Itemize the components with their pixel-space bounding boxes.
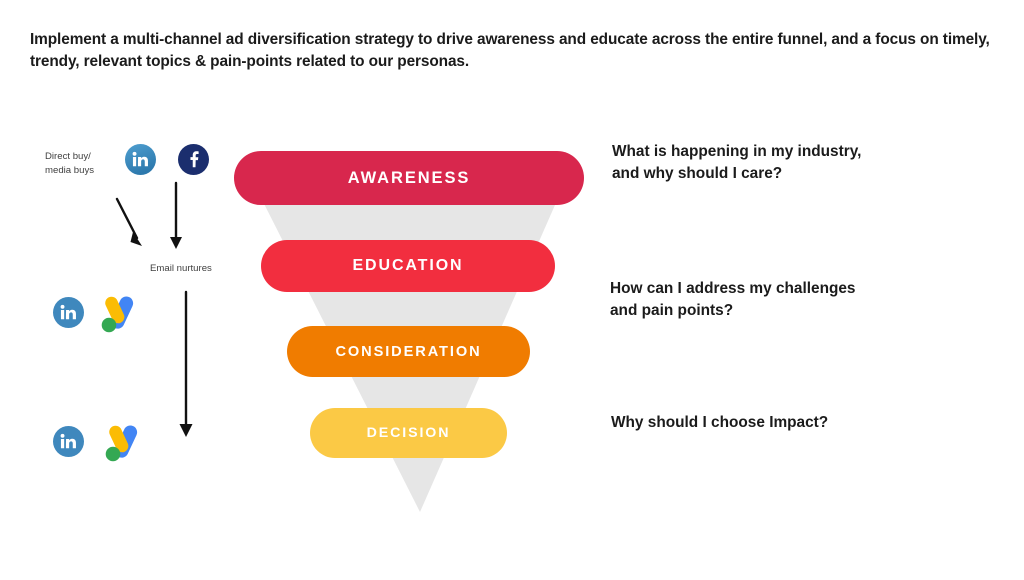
funnel-stage-education[interactable]: EDUCATION [261, 240, 555, 292]
question-decision: Why should I choose Impact? [611, 412, 941, 434]
funnel-stage-consideration[interactable]: CONSIDERATION [287, 326, 530, 377]
funnel-diagram: AWARENESSEDUCATIONCONSIDERATIONDECISION [230, 140, 590, 525]
linkedin-icon[interactable] [125, 144, 156, 175]
question-education: How can I address my challenges and pain… [610, 278, 940, 323]
linkedin-icon[interactable] [53, 297, 84, 328]
google-ads-icon[interactable] [96, 294, 148, 336]
arrow-down-long-icon [168, 288, 204, 440]
channel-column: Direct buy/ media buys Email nurtures [0, 0, 230, 580]
linkedin-icon[interactable] [53, 426, 84, 457]
direct-buy-label: Direct buy/ media buys [45, 150, 125, 178]
funnel-stage-awareness[interactable]: AWARENESS [234, 151, 584, 205]
facebook-icon[interactable] [178, 144, 209, 175]
arrow-down-short-icon [160, 180, 194, 252]
question-awareness: What is happening in my industry, and wh… [612, 141, 942, 186]
google-ads-icon[interactable] [100, 423, 152, 465]
funnel-stage-decision[interactable]: DECISION [310, 408, 507, 458]
arrow-diagonal-down-icon [110, 194, 156, 252]
